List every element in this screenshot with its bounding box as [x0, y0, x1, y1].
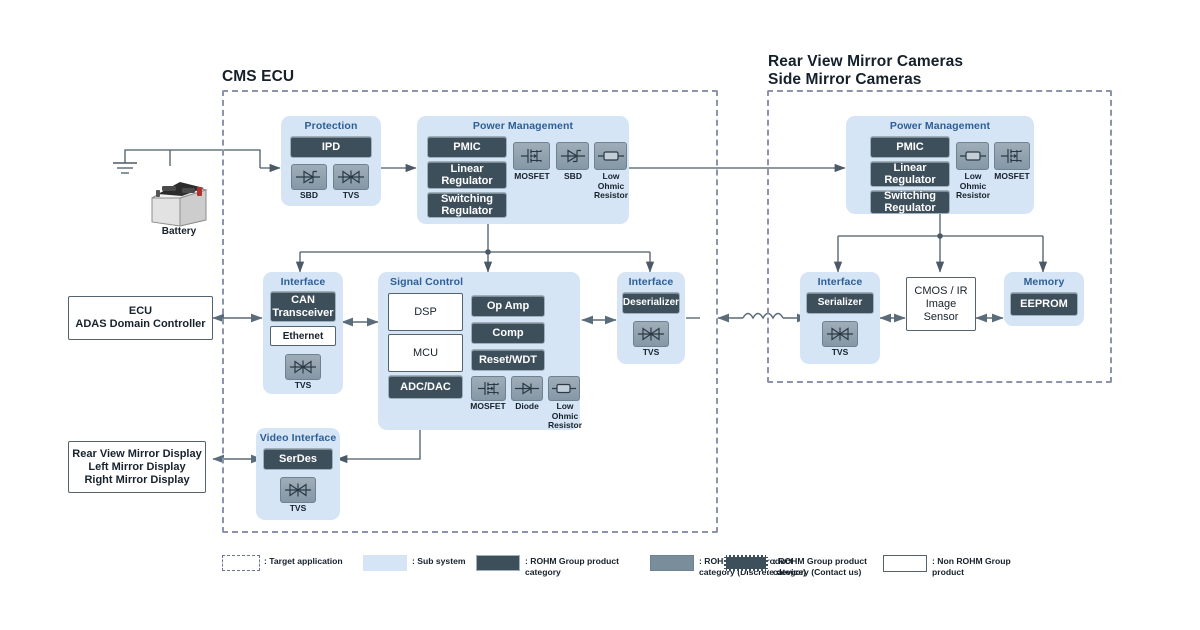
product-pmic-camera[interactable]: PMIC	[870, 136, 950, 158]
legend-swatch-target-application	[222, 555, 260, 571]
resistor-label-signal-control: Low Ohmic Resistor	[543, 402, 587, 431]
subsystem-memory: Memory EEPROM	[1004, 272, 1084, 326]
tvs-label: TVS	[331, 191, 371, 201]
sbd-label: SBD	[289, 191, 329, 201]
section-title-cameras-line1: Rear View Mirror Cameras	[768, 53, 963, 71]
sbd-diode-icon[interactable]	[291, 164, 327, 190]
external-ecu-box[interactable]: ECU ADAS Domain Controller	[68, 296, 213, 340]
product-ethernet[interactable]: Ethernet	[270, 326, 336, 346]
subsystem-power-management-ecu: Power Management PMIC Linear Regulator S…	[417, 116, 629, 224]
legend-label-rohm-product: : ROHM Group product category	[525, 556, 655, 577]
subsystem-interface-left: Interface CAN Transceiver Ethernet TVS	[263, 272, 343, 394]
legend-swatch-non-rohm	[883, 555, 927, 572]
subsystem-power-management-camera-title: Power Management	[846, 120, 1034, 132]
product-ipd[interactable]: IPD	[290, 136, 372, 158]
display-line1: Rear View Mirror Display	[72, 448, 201, 461]
subsystem-signal-control-title: Signal Control	[390, 276, 580, 288]
subsystem-video-interface-title: Video Interface	[256, 432, 340, 444]
diode-icon[interactable]	[511, 376, 543, 401]
external-ecu-line1: ECU	[129, 305, 152, 318]
external-ecu-line2: ADAS Domain Controller	[75, 318, 205, 331]
product-serdes[interactable]: SerDes	[263, 448, 333, 470]
product-switching-regulator-camera[interactable]: Switching Regulator	[870, 190, 950, 214]
product-mcu[interactable]: MCU	[388, 334, 463, 372]
product-deserializer[interactable]: Deserializer	[622, 292, 680, 314]
subsystem-power-management-camera: Power Management PMIC Linear Regulator S…	[846, 116, 1034, 214]
tvs-diode-icon[interactable]	[280, 477, 316, 503]
subsystem-protection-title: Protection	[281, 120, 381, 132]
product-dsp[interactable]: DSP	[388, 293, 463, 331]
subsystem-interface-left-title: Interface	[263, 276, 343, 288]
legend-continued: : ROHM Group product category (Contact u…	[724, 552, 1024, 592]
image-sensor-box[interactable]: CMOS / IR Image Sensor	[906, 277, 976, 331]
display-line2: Left Mirror Display	[88, 461, 185, 474]
tvs-label-deserializer: TVS	[631, 348, 671, 358]
legend-swatch-discrete	[650, 555, 694, 571]
resistor-icon[interactable]	[548, 376, 580, 401]
tvs-label-interface-camera: TVS	[820, 348, 860, 358]
subsystem-signal-control: Signal Control DSP MCU ADC/DAC Op Amp Co…	[378, 272, 580, 430]
section-title-cameras-line2: Side Mirror Cameras	[768, 71, 922, 89]
product-can-transceiver[interactable]: CAN Transceiver	[270, 291, 336, 322]
subsystem-interface-camera-title: Interface	[800, 276, 880, 288]
tvs-label-video-interface: TVS	[278, 504, 318, 514]
battery-label: Battery	[140, 226, 218, 237]
product-eeprom[interactable]: EEPROM	[1010, 292, 1078, 316]
tvs-diode-icon[interactable]	[333, 164, 369, 190]
diagram-canvas: CMS ECU Rear View Mirror Cameras Side Mi…	[0, 0, 1200, 630]
mosfet-label-pm-ecu: MOSFET	[509, 172, 555, 182]
resistor-icon[interactable]	[594, 142, 627, 170]
resistor-label-pm-camera: Low Ohmic Resistor	[952, 172, 994, 201]
sbd-diode-icon[interactable]	[556, 142, 589, 170]
product-linear-regulator-ecu[interactable]: Linear Regulator	[427, 161, 507, 189]
legend-label-non-rohm: : Non ROHM Group product	[932, 556, 1052, 577]
subsystem-interface-deserializer-title: Interface	[617, 276, 685, 288]
product-reset-wdt[interactable]: Reset/WDT	[471, 349, 545, 371]
subsystem-interface-camera: Interface Serializer TVS	[800, 272, 880, 364]
legend-swatch-sub-system	[363, 555, 407, 571]
tvs-diode-icon[interactable]	[285, 354, 321, 380]
tvs-diode-icon[interactable]	[822, 321, 858, 347]
mosfet-label-signal-control: MOSFET	[466, 402, 510, 412]
tvs-diode-icon[interactable]	[633, 321, 669, 347]
product-serializer[interactable]: Serializer	[806, 292, 874, 314]
product-switching-regulator-ecu[interactable]: Switching Regulator	[427, 192, 507, 218]
mosfet-icon[interactable]	[513, 142, 550, 170]
image-sensor-line1: CMOS / IR	[914, 285, 967, 298]
external-displays-box[interactable]: Rear View Mirror Display Left Mirror Dis…	[68, 441, 206, 493]
product-pmic-ecu[interactable]: PMIC	[427, 136, 507, 158]
diode-label-signal-control: Diode	[506, 402, 548, 412]
mosfet-label-pm-camera: MOSFET	[990, 172, 1034, 182]
subsystem-memory-title: Memory	[1004, 276, 1084, 288]
product-comp[interactable]: Comp	[471, 322, 545, 344]
subsystem-protection: Protection IPD SBD TVS	[281, 116, 381, 206]
subsystem-power-management-ecu-title: Power Management	[417, 120, 629, 132]
sbd-label-pm-ecu: SBD	[552, 172, 594, 182]
legend-swatch-rohm-product	[476, 555, 520, 571]
product-adc-dac[interactable]: ADC/DAC	[388, 375, 463, 399]
subsystem-video-interface: Video Interface SerDes TVS	[256, 428, 340, 520]
section-title-cms-ecu: CMS ECU	[222, 68, 294, 86]
subsystem-interface-deserializer: Interface Deserializer TVS	[617, 272, 685, 364]
product-op-amp[interactable]: Op Amp	[471, 295, 545, 317]
mosfet-icon[interactable]	[994, 142, 1030, 170]
mosfet-icon[interactable]	[471, 376, 506, 401]
tvs-label-interface-left: TVS	[283, 381, 323, 391]
resistor-label-pm-ecu: Low Ohmic Resistor	[590, 172, 632, 201]
legend-swatch-contact-us	[724, 555, 768, 571]
display-line3: Right Mirror Display	[84, 474, 189, 487]
battery-icon	[148, 168, 210, 226]
resistor-icon[interactable]	[956, 142, 989, 170]
image-sensor-line2: Image Sensor	[907, 298, 975, 324]
product-linear-regulator-camera[interactable]: Linear Regulator	[870, 161, 950, 187]
